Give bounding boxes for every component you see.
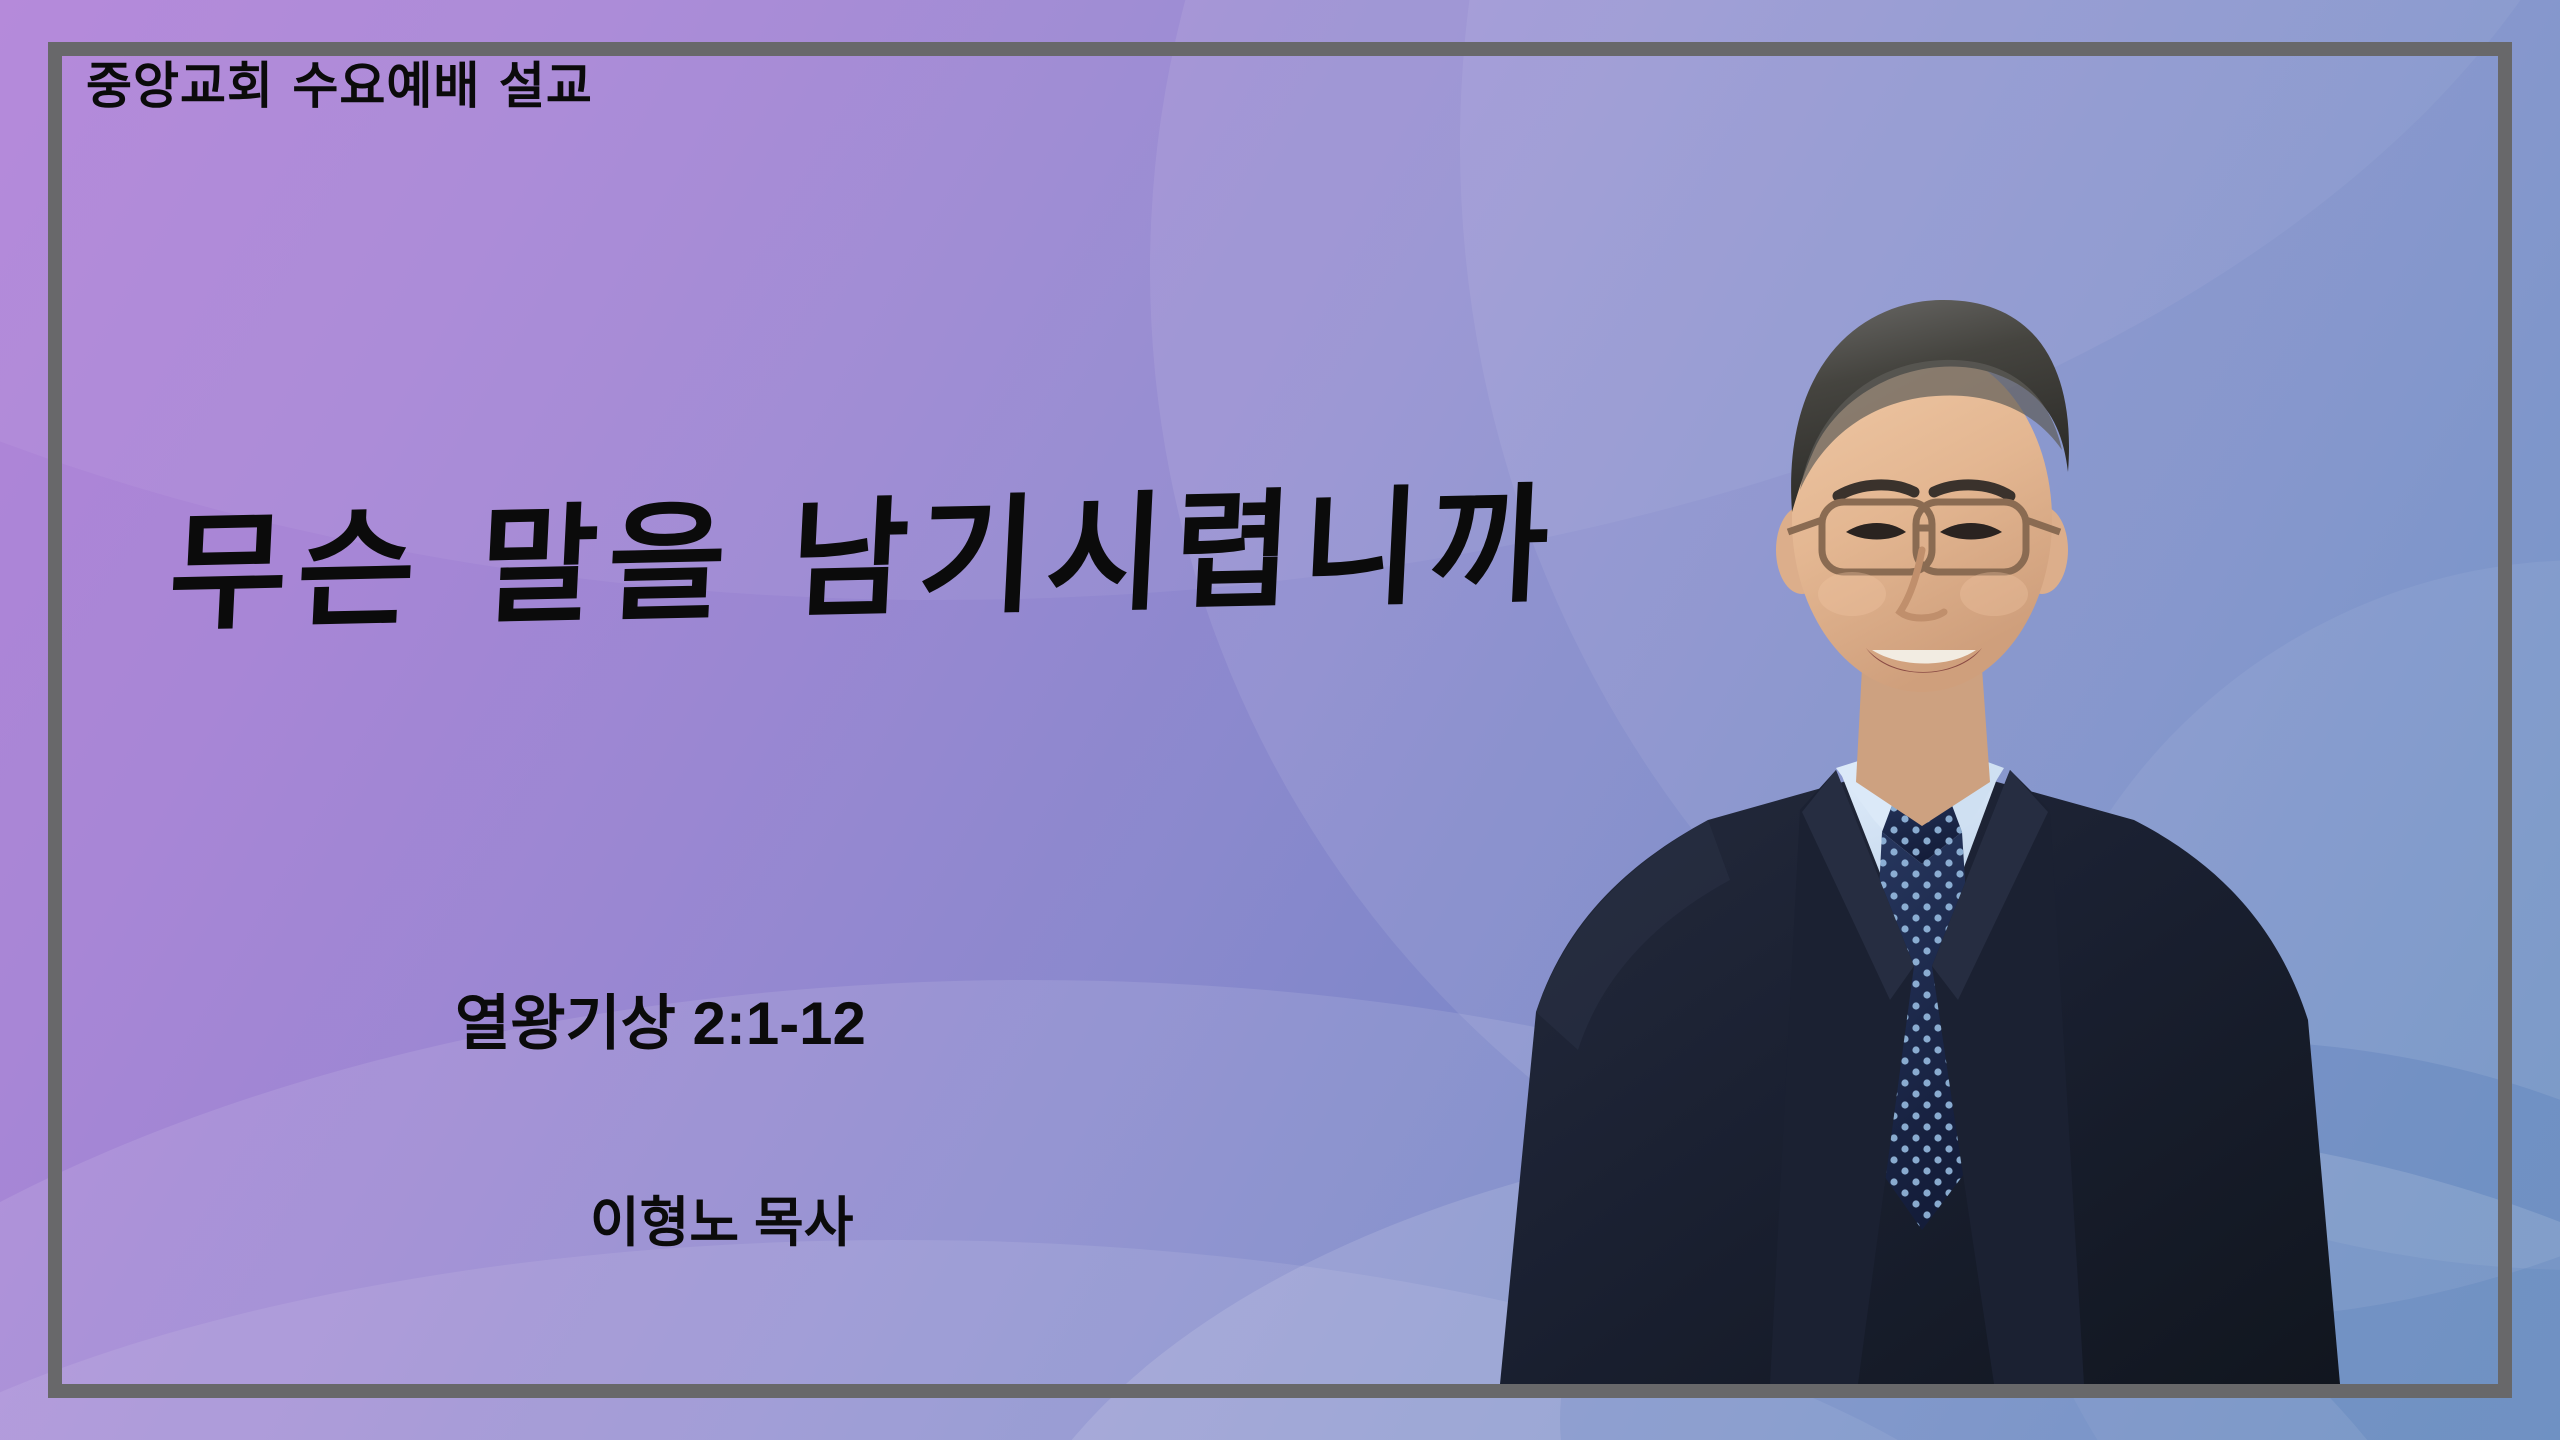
page-title: 무슨 말을 남기시렵니까	[165, 441, 1563, 655]
preacher-portrait	[1470, 120, 2370, 1384]
preacher-name: 이형노 목사	[590, 1178, 853, 1257]
sermon-title-slide: 중앙교회 수요예배 설교 무슨 말을 남기시렵니까 열왕기상 2:1-12 이형…	[0, 0, 2560, 1440]
series-label: 중앙교회 수요예배 설교	[86, 46, 593, 118]
scripture-reference: 열왕기상 2:1-12	[455, 975, 866, 1062]
